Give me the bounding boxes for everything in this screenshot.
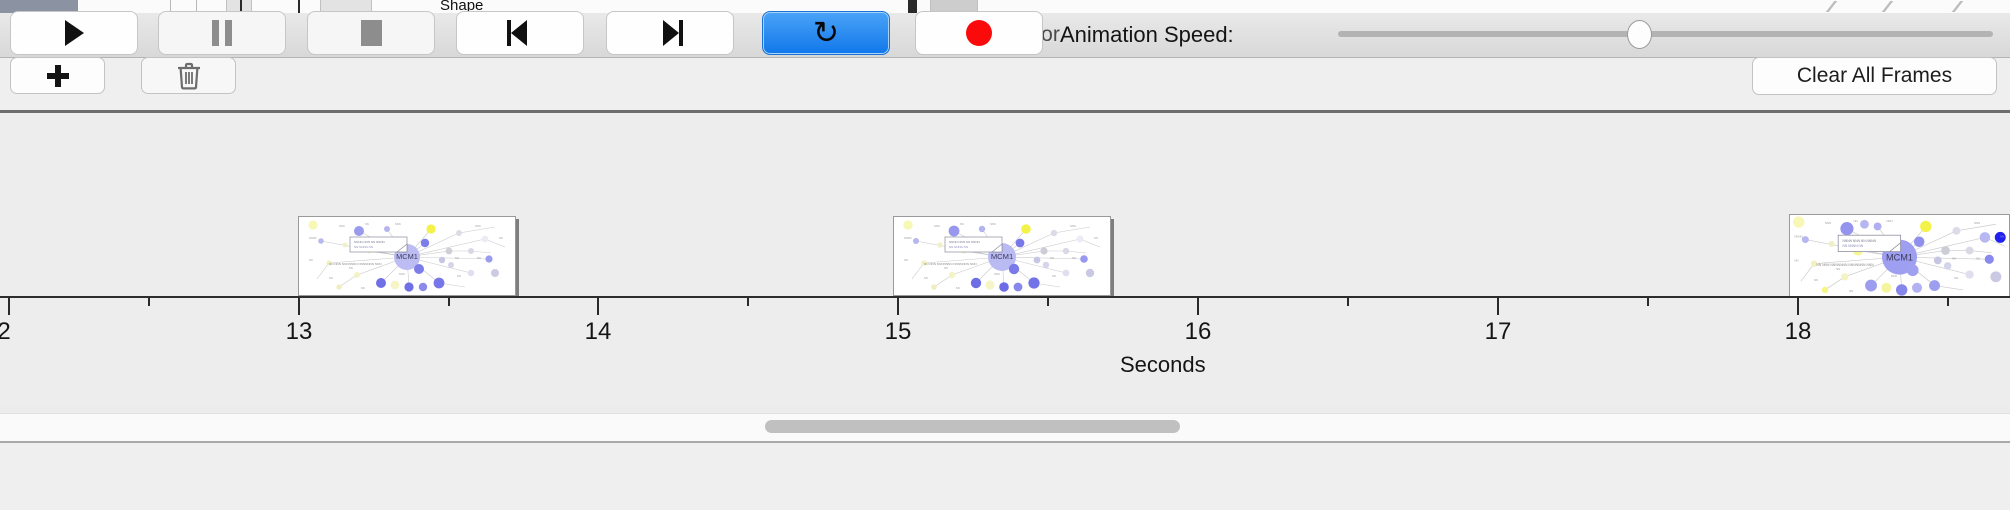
ruler-label: 17 — [1485, 318, 1512, 346]
svg-text:NNN: NNN — [1825, 221, 1831, 225]
svg-text:NNN: NNN — [1974, 221, 1980, 225]
plus-icon — [47, 65, 69, 87]
svg-text:NNNN: NNNN — [1794, 234, 1802, 238]
toolbar — [0, 58, 2010, 110]
loop-icon: ↻ — [813, 18, 839, 49]
delete-frame-button[interactable] — [141, 57, 236, 94]
ruler-label: 18 — [1785, 318, 1812, 346]
pause-button[interactable] — [158, 11, 286, 55]
svg-text:NN NNN NNNNNNN NNNNNNN NNN: NN NNN NNNNNNN NNNNNNN NNN — [329, 262, 382, 266]
ruler-tick-major — [1497, 298, 1499, 315]
svg-text:NN: NN — [1814, 278, 1818, 282]
svg-text:NN: NN — [1954, 276, 1958, 280]
background-slash — [1952, 1, 1974, 12]
play-icon — [65, 20, 84, 46]
svg-text:NN: NN — [1952, 256, 1956, 260]
svg-text:NN: NN — [457, 274, 461, 278]
skip-to-end-button[interactable] — [606, 11, 734, 55]
ruler-tick-minor — [1047, 298, 1049, 306]
playback-control-bar — [0, 441, 2010, 510]
svg-text:NNN: NNN — [1886, 219, 1892, 223]
ruler-tick-minor — [1647, 298, 1649, 306]
svg-text:NN: NN — [361, 286, 365, 290]
svg-text:NN: NN — [904, 258, 908, 262]
svg-text:NN: NN — [309, 258, 313, 262]
ruler-tick-major — [8, 298, 10, 315]
ruler-tick-minor — [747, 298, 749, 306]
cyanimator-window: Shape CyAnimator Clear All Frames — [0, 0, 2010, 510]
record-icon — [966, 20, 992, 46]
timeline-scrollbar-thumb[interactable] — [765, 420, 1180, 433]
ruler-tick-minor — [448, 298, 450, 306]
svg-text:NN: NN — [960, 222, 964, 226]
svg-text:NN: NN — [477, 256, 481, 260]
svg-text:NNN: NNN — [1070, 224, 1076, 228]
timeline-ruler[interactable]: 2 13 14 15 16 17 18 Seconds — [0, 296, 2010, 406]
clear-all-frames-button[interactable]: Clear All Frames — [1752, 57, 1997, 95]
svg-text:NN NNN NNNNNNN NNNNNNN NNN: NN NNN NNNNNNN NNNNNNN NNN — [924, 262, 977, 266]
ruler-label: 2 — [0, 318, 11, 346]
keyframe-thumbnail-2[interactable]: NNNNNNNNN NNNNNNNN NNNNNN NNNNNNN NNNN N… — [893, 216, 1111, 296]
svg-text:NN: NN — [1794, 258, 1798, 262]
svg-text:NN: NN — [1050, 256, 1054, 260]
animation-speed-slider-thumb[interactable] — [1627, 20, 1652, 49]
previous-icon — [507, 20, 533, 46]
animation-speed-label: Animation Speed: — [1060, 22, 1234, 48]
hub-node-label-3: MCM1 — [1886, 252, 1913, 262]
ruler-tick-major — [597, 298, 599, 315]
ruler-tick-major — [298, 298, 300, 315]
svg-text:NN: NN — [1094, 236, 1098, 240]
svg-text:NNN: NNN — [990, 222, 996, 226]
ruler-label: 14 — [585, 318, 612, 346]
svg-text:NN: NN — [1072, 256, 1076, 260]
stop-button[interactable] — [307, 11, 435, 55]
ruler-tick-minor — [148, 298, 150, 306]
animation-speed-slider-track[interactable] — [1338, 31, 1993, 37]
loop-button[interactable]: ↻ — [762, 11, 890, 55]
svg-text:NNN: NNN — [994, 272, 1000, 276]
svg-text:NNNN NNN NN NNNN: NNNN NNN NN NNNN — [1843, 239, 1877, 243]
svg-text:NN NNNN NN: NN NNNN NN — [949, 245, 968, 249]
stop-icon — [361, 20, 382, 46]
svg-text:NNNN NNN NN NNNN: NNNN NNN NN NNNN — [949, 240, 980, 244]
ruler-label: 15 — [885, 318, 912, 346]
next-icon — [657, 20, 683, 46]
background-slash — [1826, 1, 1848, 12]
hub-node-label-1: MCM1 — [396, 252, 418, 261]
svg-text:NN: NN — [349, 266, 353, 270]
svg-text:NN: NN — [1836, 267, 1840, 271]
ruler-label: 16 — [1185, 318, 1212, 346]
svg-text:NN: NN — [455, 256, 459, 260]
svg-text:NN: NN — [1854, 219, 1858, 223]
ruler-baseline — [0, 296, 2010, 298]
background-slash — [1882, 1, 1904, 12]
svg-text:NN: NN — [956, 286, 960, 290]
svg-text:NN: NN — [924, 276, 928, 280]
svg-text:NNN: NNN — [399, 272, 405, 276]
trash-icon — [176, 62, 202, 90]
svg-text:NNN: NNN — [1891, 274, 1897, 278]
record-button[interactable] — [915, 11, 1043, 55]
svg-text:NN: NN — [1976, 256, 1980, 260]
svg-text:NNN: NNN — [339, 224, 345, 228]
svg-text:NN NNN NNNNNNN NNNNNNN NNN: NN NNN NNNNNNN NNNNNNN NNN — [1816, 263, 1874, 267]
svg-text:NN: NN — [329, 276, 333, 280]
svg-text:NNN: NNN — [934, 224, 940, 228]
svg-text:NNNN NNN NN NNNN: NNNN NNN NN NNNN — [354, 240, 385, 244]
ruler-tick-major — [897, 298, 899, 315]
hub-node-label-2: MCM1 — [991, 252, 1013, 261]
svg-text:NNN: NNN — [395, 222, 401, 226]
ruler-tick-major — [1197, 298, 1199, 315]
axis-title: Seconds — [1120, 352, 1206, 378]
keyframe-thumbnail-1[interactable]: NNNNNNNNN NNNNNNNN NNNNNN NNNNNNN NNNN N… — [298, 216, 516, 296]
ruler-tick-minor — [1947, 298, 1949, 306]
network-graph-preview: NNNNNNNNN NNNNNNNN NNNNNN NNNNNNN NNNN N… — [299, 217, 515, 295]
keyframe-thumbnail-3[interactable]: NNNNNNNNN NNNNNNNN NNNNNN NNNNNNN NNNN N… — [1789, 214, 2010, 296]
timeline-track[interactable]: NNNNNNNNN NNNNNNNN NNNNNN NNNNNNN NNNN N… — [0, 113, 2010, 296]
svg-text:NNNN: NNNN — [904, 236, 912, 240]
ruler-tick-major — [1797, 298, 1799, 315]
network-graph-preview: NNNNNNNNN NNNNNNNN NNNNNN NNNNNNN NNNN N… — [894, 217, 1110, 295]
background-marker — [298, 0, 300, 13]
svg-text:NN: NN — [365, 222, 369, 226]
svg-text:NNN: NNN — [475, 224, 481, 228]
svg-text:NN: NN — [1849, 289, 1853, 293]
svg-text:NN: NN — [1052, 274, 1056, 278]
svg-text:NN NNNN NN: NN NNNN NN — [354, 245, 373, 249]
pause-icon — [212, 20, 232, 46]
svg-text:NN: NN — [499, 236, 503, 240]
background-marker — [908, 0, 917, 13]
svg-text:NN: NN — [2000, 234, 2004, 238]
skip-to-start-button[interactable] — [456, 11, 584, 55]
svg-text:NNNN: NNNN — [309, 236, 317, 240]
ruler-tick-minor — [1347, 298, 1349, 306]
play-button[interactable] — [10, 11, 138, 55]
network-graph-preview: NNNNNNNNN NNNNNNNN NNNNNN NNNNNNN NNNN N… — [1790, 215, 2009, 296]
add-frame-button[interactable] — [10, 57, 105, 94]
ruler-label: 13 — [286, 318, 313, 346]
svg-text:NN: NN — [944, 266, 948, 270]
svg-text:NN NNNN NN: NN NNNN NN — [1843, 244, 1864, 248]
